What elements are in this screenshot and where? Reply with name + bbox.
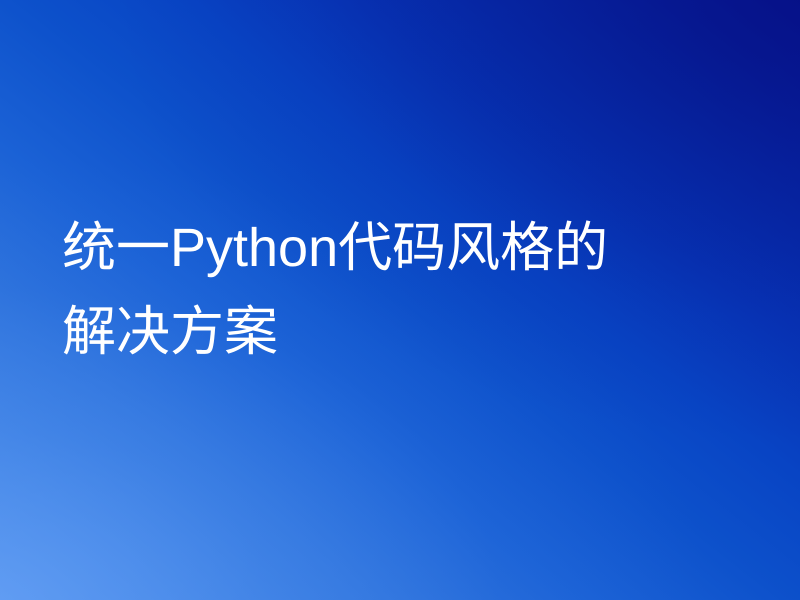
slide-title: 统一Python代码风格的 解决方案 [62,206,752,374]
presentation-slide: 统一Python代码风格的 解决方案 [0,0,800,600]
slide-title-line-1: 统一Python代码风格的 [62,206,752,290]
slide-title-line-2: 解决方案 [62,290,752,374]
